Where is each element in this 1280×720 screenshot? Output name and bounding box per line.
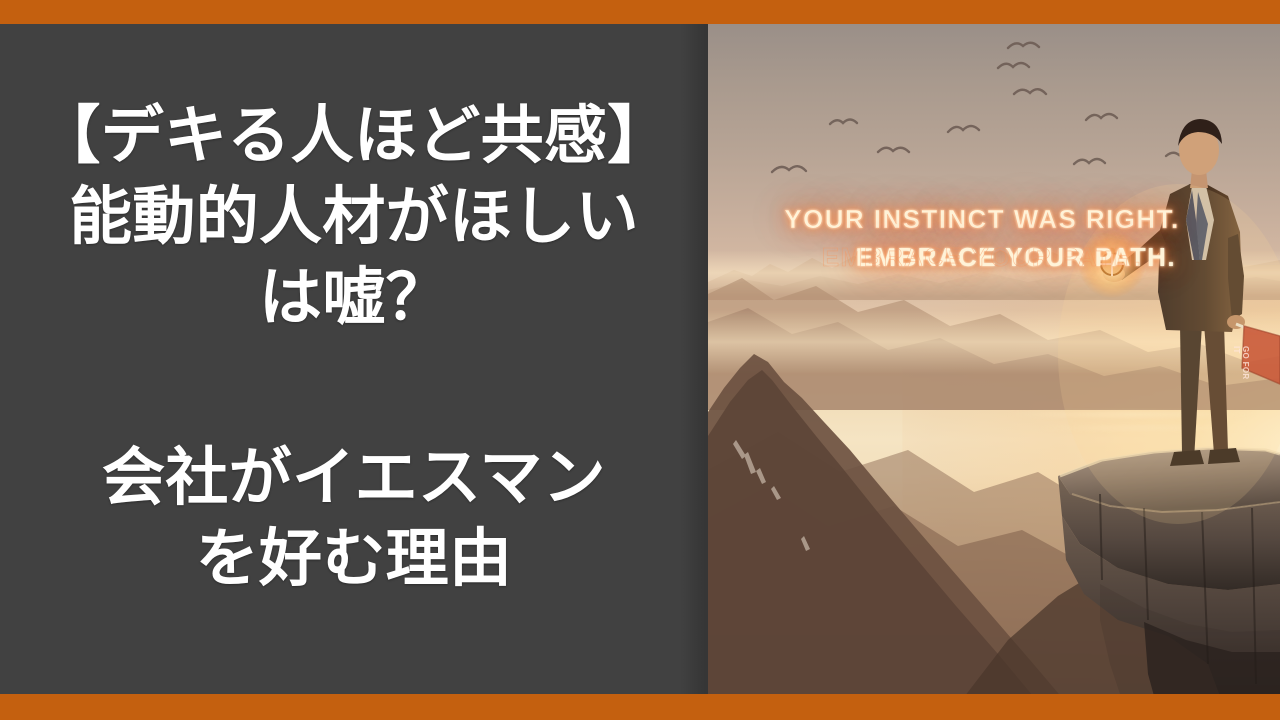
headline-secondary-line-2: を好む理由 xyxy=(0,519,708,600)
cliff-and-figure xyxy=(708,24,1280,694)
hero-photo: YOUR INSTINCT WAS RIGHT. EMBRACE YOUR PA… xyxy=(708,24,1280,694)
headline-secondary-line-1: 会社がイエスマン xyxy=(0,438,708,519)
headline-primary: 【デキる人ほど共感】 能動的人材がほしい は嘘？ xyxy=(0,96,708,339)
headline-primary-line-2: 能動的人材がほしい xyxy=(0,177,708,258)
bottom-accent-bar xyxy=(0,694,1280,720)
headline-primary-line-1: 【デキる人ほど共感】 xyxy=(0,96,708,177)
headline-secondary: 会社がイエスマン を好む理由 xyxy=(0,438,708,600)
headline-primary-line-3: は嘘？ xyxy=(0,258,708,339)
thumbnail-canvas: 【デキる人ほど共感】 能動的人材がほしい は嘘？ 会社がイエスマン を好む理由 xyxy=(0,0,1280,720)
text-panel: 【デキる人ほど共感】 能動的人材がほしい は嘘？ 会社がイエスマン を好む理由 xyxy=(0,24,708,694)
top-accent-bar xyxy=(0,0,1280,24)
